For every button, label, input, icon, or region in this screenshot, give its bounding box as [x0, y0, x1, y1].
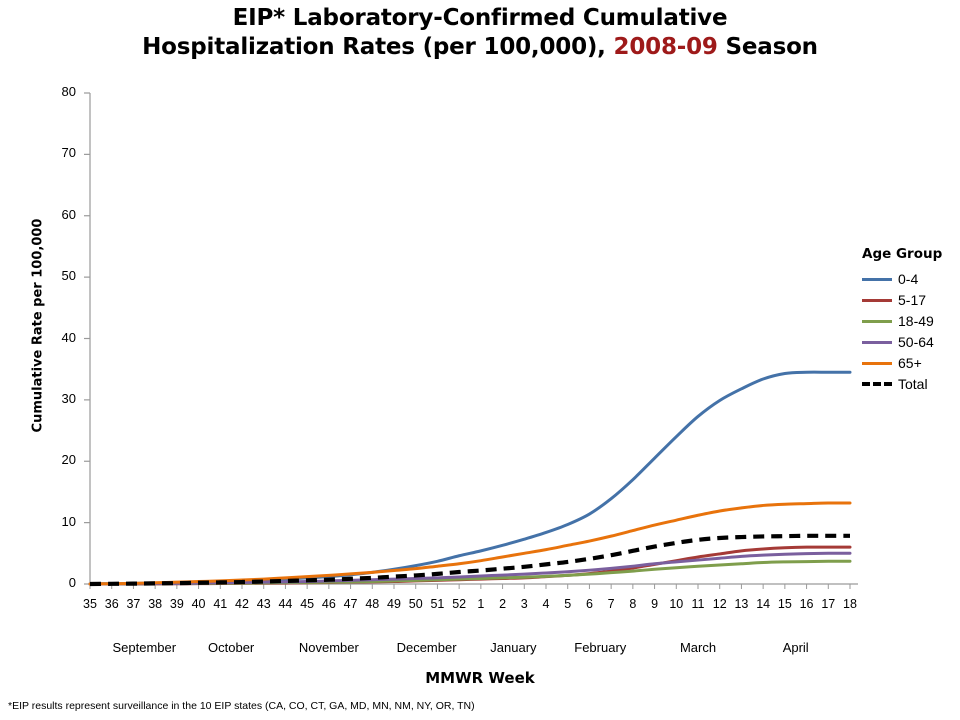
legend-swatch-icon	[862, 299, 892, 302]
y-axis-tick-label: 30	[36, 391, 76, 406]
month-label: November	[274, 640, 384, 655]
legend-swatch-icon	[862, 320, 892, 323]
axis-layer	[84, 93, 858, 589]
legend-item-total[interactable]: Total	[862, 374, 960, 394]
month-label: February	[545, 640, 655, 655]
legend-item-label: 0-4	[898, 271, 918, 287]
legend-rows: 0-45-1718-4950-6465+Total	[862, 269, 960, 394]
legend-title: Age Group	[862, 246, 960, 262]
legend-item-label: Total	[898, 376, 928, 392]
legend-swatch-icon	[862, 382, 892, 386]
legend-item-label: 5-17	[898, 292, 926, 308]
legend-item-18-49[interactable]: 18-49	[862, 311, 960, 331]
month-label: March	[643, 640, 753, 655]
legend-item-label: 65+	[898, 355, 922, 371]
y-axis-tick-label: 70	[36, 145, 76, 160]
legend-item-5-17[interactable]: 5-17	[862, 290, 960, 310]
y-axis-tick-label: 40	[36, 330, 76, 345]
chart-container: EIP* Laboratory-Confirmed Cumulative Hos…	[0, 0, 960, 720]
legend-item-65-[interactable]: 65+	[862, 353, 960, 373]
y-axis-tick-label: 20	[36, 452, 76, 467]
legend-swatch-icon	[862, 362, 892, 365]
plot-area	[0, 0, 960, 720]
legend-item-label: 50-64	[898, 334, 934, 350]
x-axis-tick-label: 18	[835, 597, 865, 611]
y-axis-tick-label: 10	[36, 514, 76, 529]
legend-item-0-4[interactable]: 0-4	[862, 269, 960, 289]
legend-item-label: 18-49	[898, 313, 934, 329]
y-axis-tick-label: 50	[36, 268, 76, 283]
legend-item-50-64[interactable]: 50-64	[862, 332, 960, 352]
legend: Age Group 0-45-1718-4950-6465+Total	[862, 246, 960, 395]
legend-swatch-icon	[862, 341, 892, 344]
y-axis-tick-label: 60	[36, 207, 76, 222]
month-label: October	[176, 640, 286, 655]
y-axis-tick-label: 80	[36, 84, 76, 99]
legend-swatch-icon	[862, 278, 892, 281]
series-layer	[90, 372, 850, 584]
y-axis-tick-label: 0	[36, 575, 76, 590]
month-label: April	[741, 640, 851, 655]
